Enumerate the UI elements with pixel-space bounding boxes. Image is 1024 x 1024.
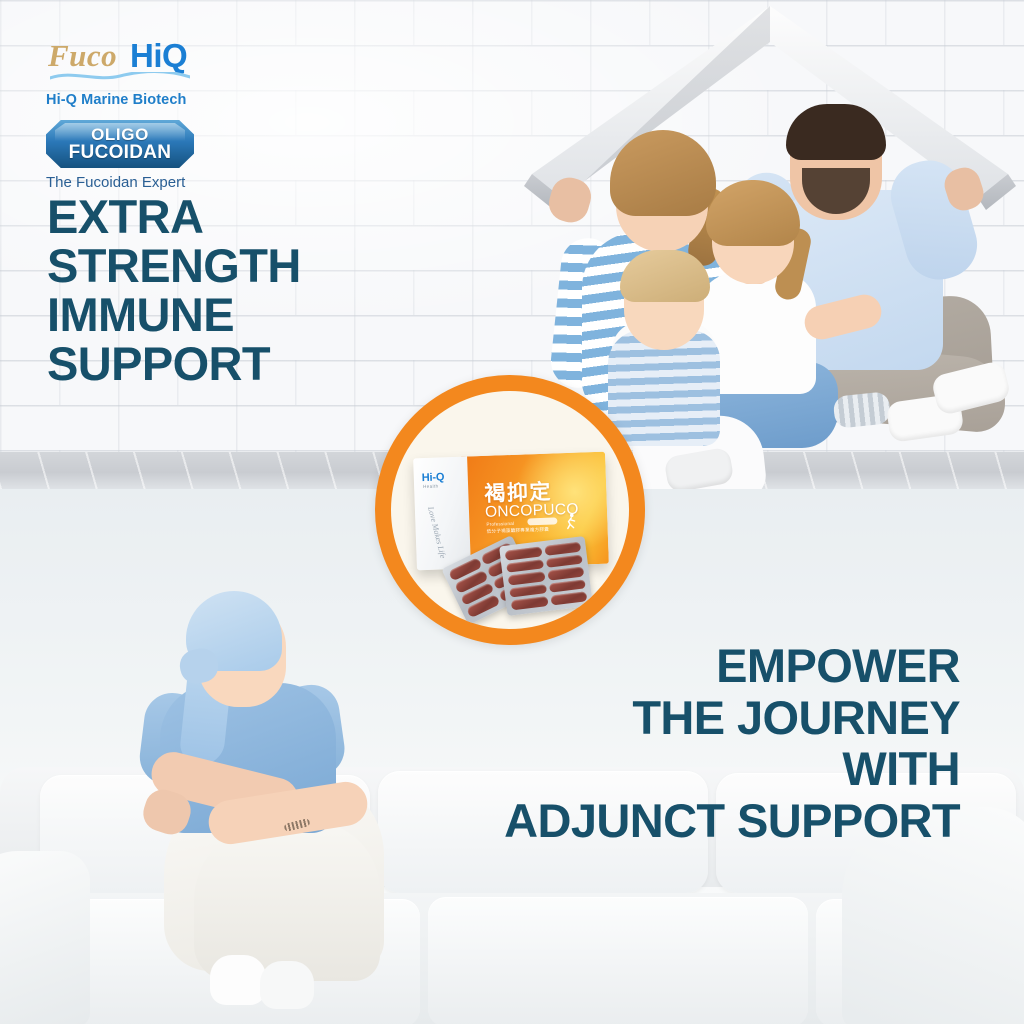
sofa-armrest-right: [842, 807, 1024, 1024]
product-badge-pill: [527, 517, 557, 525]
wave-icon: [50, 72, 190, 82]
fucohiq-logo-fuco: Fuco: [48, 38, 117, 74]
capsule: [548, 579, 585, 593]
product-highlight-circle: Hi-Q Health Love Makes Life 褐抑定 ONCOPUCO…: [375, 375, 645, 645]
capsule: [506, 559, 543, 573]
badge-line-1: OLIGO: [91, 126, 149, 143]
headline-immune-support: EXTRA STRENGTH IMMUNE SUPPORT: [47, 193, 417, 389]
capsule: [505, 546, 542, 560]
product-photo: Hi-Q Health Love Makes Life 褐抑定 ONCOPUCO…: [391, 391, 629, 629]
advertisement-canvas: EXTRA STRENGTH IMMUNE SUPPORT: [0, 0, 1024, 1024]
fucohiq-logo-hiq: HiQ: [130, 37, 187, 75]
badge-line-2: FUCOIDAN: [69, 143, 172, 162]
fucohiq-logo: Fuco HiQ: [46, 38, 236, 96]
product-hiq-logo: Hi-Q: [422, 471, 445, 484]
product-script-text: Love Makes Life: [426, 506, 448, 559]
product-tagline: The Fucoidan Expert: [46, 174, 236, 191]
runner-icon: [565, 513, 577, 531]
capsule: [547, 567, 584, 581]
son-hair: [620, 250, 710, 302]
capsule: [508, 571, 545, 585]
capsule-grid: [505, 542, 588, 611]
sofa-back-cushion: [378, 771, 708, 893]
capsule: [511, 596, 548, 610]
woman-with-headscarf: [86, 563, 406, 1023]
capsule: [509, 584, 546, 598]
capsule: [544, 542, 581, 556]
sofa-armrest-left: [0, 851, 90, 1024]
product-box-side-white: Hi-Q Health Love Makes Life: [413, 456, 471, 570]
woman-sock-left: [210, 955, 266, 1005]
blister-pack: [499, 536, 593, 616]
oligo-fucoidan-badge: OLIGO FUCOIDAN: [46, 120, 194, 168]
capsule: [550, 592, 587, 606]
capsule: [545, 554, 582, 568]
sofa-seat-cushion: [428, 897, 808, 1024]
product-hiq-sublabel: Health: [423, 484, 439, 490]
brand-logo-block: Fuco HiQ Hi-Q Marine Biotech OLIGO FUCOI…: [46, 38, 236, 191]
woman-sock-right: [260, 961, 314, 1009]
badge-text: OLIGO FUCOIDAN: [46, 120, 194, 168]
